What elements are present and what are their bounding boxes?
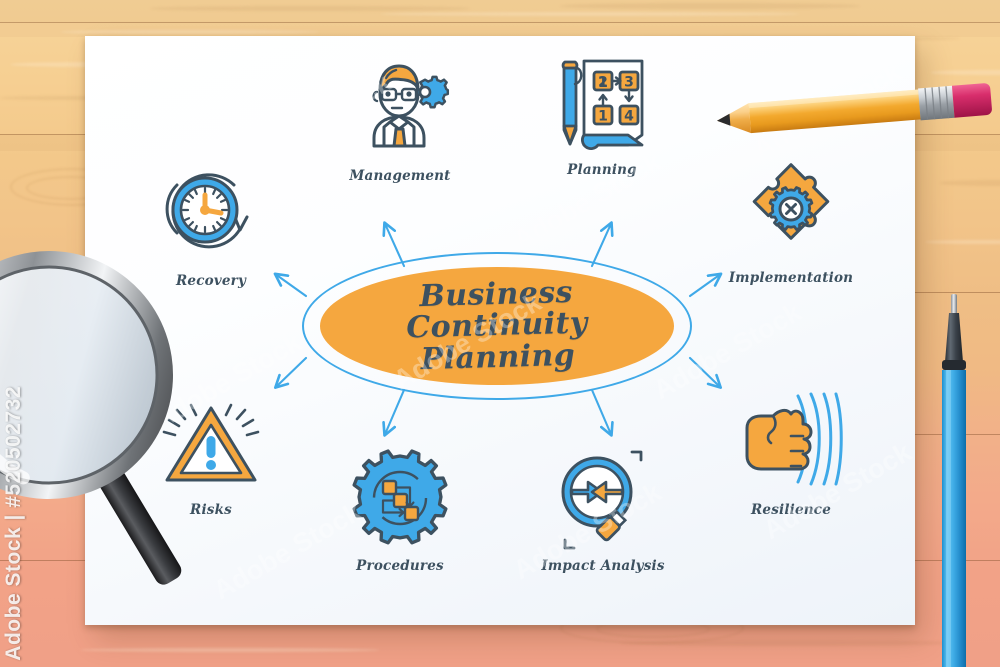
node-label-risks: Risks [190, 502, 232, 518]
gear-flowchart-icon [344, 448, 456, 552]
node-resilience[interactable]: Resilience [706, 392, 876, 518]
node-label-procedures: Procedures [356, 558, 444, 574]
node-procedures[interactable]: Procedures [315, 448, 485, 574]
node-management[interactable]: Management [315, 58, 485, 184]
node-label-resilience: Resilience [751, 502, 831, 518]
blue-ballpoint-pen [934, 294, 974, 667]
magnifying-glass [0, 215, 194, 615]
pen-and-flowchart-icon: 1 1 2 3 4 [546, 52, 658, 156]
planning-step-2: 2 [598, 75, 608, 91]
node-planning[interactable]: 1 1 2 3 4 Planning [517, 52, 687, 178]
node-implementation[interactable]: Implementation [706, 160, 876, 286]
magnifier-arrows-icon [547, 448, 659, 552]
puzzle-gear-icon [735, 160, 847, 264]
node-label-management: Management [349, 168, 450, 184]
node-label-impact-analysis: Impact Analysis [541, 558, 664, 574]
person-with-gear-icon [344, 58, 456, 162]
node-impact-analysis[interactable]: Impact Analysis [518, 448, 688, 574]
node-label-implementation: Implementation [729, 270, 853, 286]
planning-step-3: 3 [624, 75, 634, 91]
fist-impact-icon [735, 392, 847, 496]
central-topic-label: Business Continuity Planning [300, 247, 694, 406]
planning-step-4: 4 [624, 109, 634, 125]
central-line-3: Planning [420, 339, 575, 374]
central-topic-ellipse: Business Continuity Planning [302, 252, 692, 400]
scene-canvas: Business Continuity Planning [0, 0, 1000, 667]
node-label-planning: Planning [567, 162, 637, 178]
planning-step-1: 1 [598, 109, 608, 125]
